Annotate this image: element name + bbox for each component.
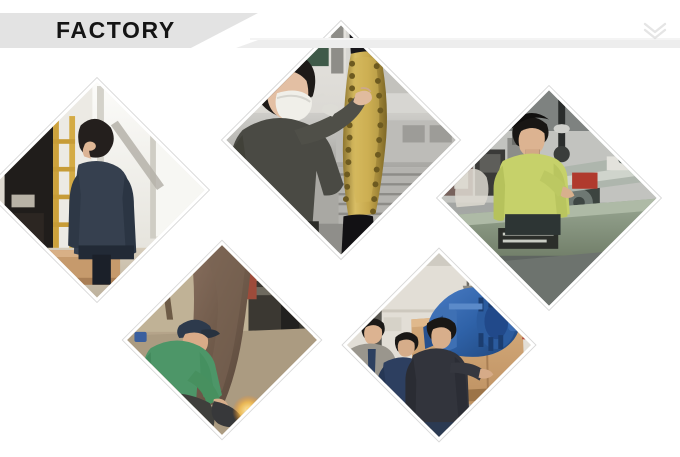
diamond-photo-bit-inspection[interactable] (222, 21, 460, 259)
photo-crate-packing (343, 249, 535, 441)
header-strip (236, 40, 680, 48)
photo-bit-inspection (222, 21, 460, 259)
diamond-photo-lathe-machining[interactable] (437, 86, 660, 309)
photo-worker-warehouse (0, 78, 209, 301)
diamond-photo-worker-warehouse[interactable] (0, 78, 209, 301)
chevron-double-down-icon[interactable] (642, 22, 668, 40)
page-title: FACTORY (56, 15, 176, 46)
page-header: FACTORY (0, 0, 680, 56)
photo-plate-welding (123, 241, 321, 439)
factory-photo-collage (0, 46, 680, 457)
diamond-photo-plate-welding[interactable] (123, 241, 321, 439)
diamond-photo-crate-packing[interactable] (343, 249, 535, 441)
header-strip-hairline (250, 38, 680, 40)
photo-lathe-machining (437, 86, 660, 309)
